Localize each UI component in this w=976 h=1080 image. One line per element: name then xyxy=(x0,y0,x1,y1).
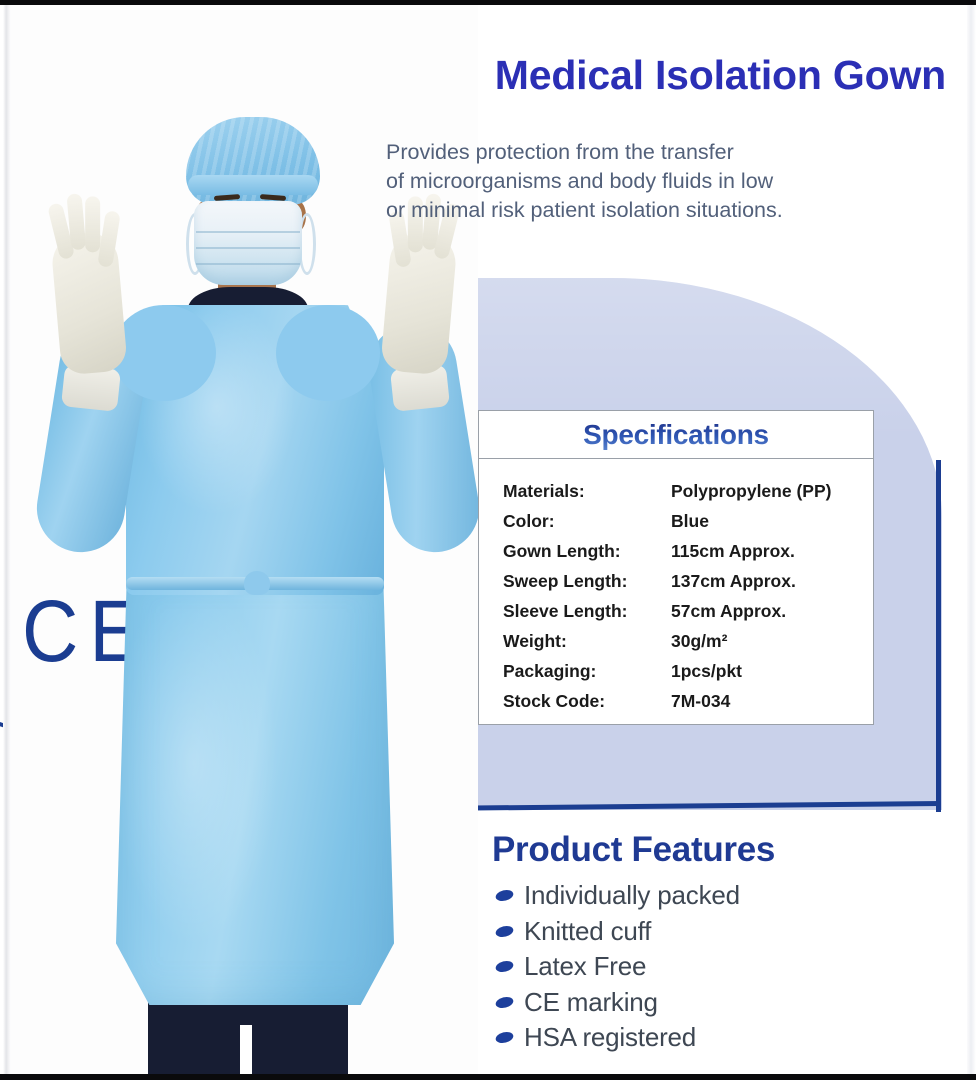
spec-value: 115cm Approx. xyxy=(671,541,795,562)
bullet-icon xyxy=(494,890,515,901)
spec-value: 57cm Approx. xyxy=(671,601,786,622)
spec-label: Materials: xyxy=(503,481,671,502)
surgical-cap-band xyxy=(188,175,318,195)
mask-pleat xyxy=(196,231,300,233)
table-row: Materials: Polypropylene (PP) xyxy=(503,481,873,511)
description-line: of microorganisms and body fluids in low xyxy=(386,167,956,196)
bullet-icon xyxy=(494,926,515,937)
feature-label: Knitted cuff xyxy=(524,916,651,947)
frame-edge-left xyxy=(3,5,11,1074)
frame-bar-top xyxy=(0,0,976,5)
list-item: Latex Free xyxy=(496,949,740,985)
gloved-hand-right xyxy=(380,230,458,375)
list-item: Individually packed xyxy=(496,878,740,914)
spec-label: Sweep Length: xyxy=(503,571,671,592)
blue-rule-right xyxy=(936,460,941,812)
product-features-title: Product Features xyxy=(492,830,775,870)
bullet-icon xyxy=(494,961,515,972)
gloved-hand-left xyxy=(50,230,128,375)
gown-shoulder-right xyxy=(276,305,380,401)
table-row: Color: Blue xyxy=(503,511,873,541)
spec-label: Color: xyxy=(503,511,671,532)
spec-value: 7M-034 xyxy=(671,691,730,712)
bullet-icon xyxy=(494,1032,515,1043)
spec-label: Packaging: xyxy=(503,661,671,682)
table-row: Gown Length: 115cm Approx. xyxy=(503,541,873,571)
product-features-list: Individually packed Knitted cuff Latex F… xyxy=(496,878,740,1056)
mask-pleat xyxy=(196,263,300,265)
table-row: Packaging: 1pcs/pkt xyxy=(503,661,873,691)
feature-label: CE marking xyxy=(524,987,658,1018)
spec-label: Sleeve Length: xyxy=(503,601,671,622)
description-line: Provides protection from the transfer xyxy=(386,138,956,167)
table-row: Sweep Length: 137cm Approx. xyxy=(503,571,873,601)
bullet-icon xyxy=(494,997,515,1008)
table-row: Sleeve Length: 57cm Approx. xyxy=(503,601,873,631)
spec-value: 1pcs/pkt xyxy=(671,661,742,682)
mask-pleat xyxy=(196,247,300,249)
table-row: Weight: 30g/m² xyxy=(503,631,873,661)
specifications-header: Specifications xyxy=(479,411,873,459)
table-row: Stock Code: 7M-034 xyxy=(503,691,873,721)
gown-shoulder-left xyxy=(112,305,216,401)
gown-skirt xyxy=(116,565,394,1005)
spec-value: Blue xyxy=(671,511,709,532)
spec-label: Weight: xyxy=(503,631,671,652)
spec-label: Gown Length: xyxy=(503,541,671,562)
product-description: Provides protection from the transfer of… xyxy=(386,138,956,225)
specifications-title: Specifications xyxy=(583,419,769,451)
spec-label: Stock Code: xyxy=(503,691,671,712)
list-item: HSA registered xyxy=(496,1020,740,1056)
product-poster: CE xyxy=(0,0,976,1080)
list-item: CE marking xyxy=(496,985,740,1021)
frame-edge-right xyxy=(967,5,976,1074)
description-line: or minimal risk patient isolation situat… xyxy=(386,196,956,225)
leg-gap xyxy=(240,1025,252,1074)
gown-waist-knot xyxy=(244,571,270,595)
frame-bar-bottom xyxy=(0,1074,976,1080)
specifications-table: Specifications Materials: Polypropylene … xyxy=(478,410,874,725)
page-title: Medical Isolation Gown xyxy=(386,52,946,99)
list-item: Knitted cuff xyxy=(496,914,740,950)
feature-label: Latex Free xyxy=(524,951,646,982)
feature-label: Individually packed xyxy=(524,880,740,911)
specifications-body: Materials: Polypropylene (PP) Color: Blu… xyxy=(479,459,873,721)
feature-label: HSA registered xyxy=(524,1022,696,1053)
spec-value: Polypropylene (PP) xyxy=(671,481,831,502)
spec-value: 30g/m² xyxy=(671,631,727,652)
surgical-mask xyxy=(194,201,302,285)
spec-value: 137cm Approx. xyxy=(671,571,796,592)
